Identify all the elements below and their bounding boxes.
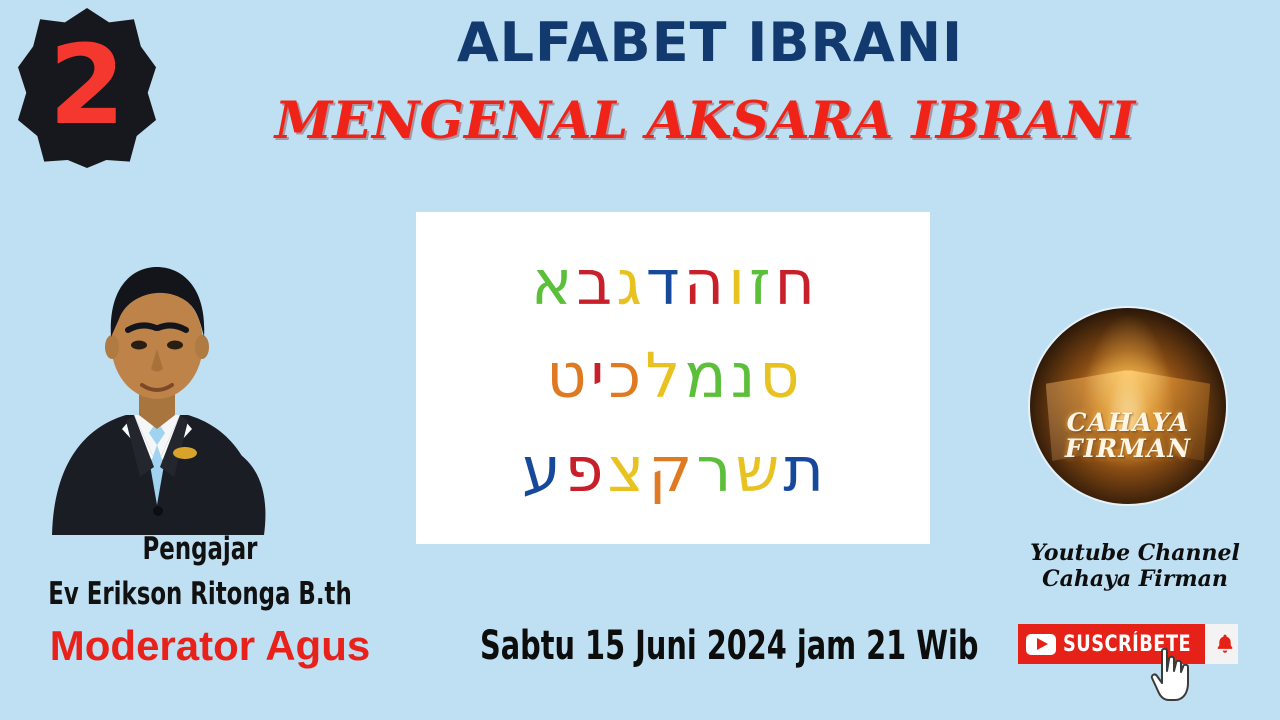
channel-logo-line1: CAHAYA [1030,410,1226,436]
speaker-name-label: Ev Erikson Ritonga B.th [36,578,364,611]
channel-caption-line2: Cahaya Firman [990,566,1280,592]
page-subtitle: MENGENAL AKSARA IBRANI [139,96,1271,147]
hebrew-row-1: חזוהדגבא [432,250,914,315]
youtube-play-icon [1026,634,1056,655]
hebrew-letter: ב [574,250,614,315]
hebrew-letter: ת [781,437,826,502]
page-title: ALFABET IBRANI [330,16,1090,70]
hebrew-letter: י [589,343,607,408]
hebrew-letter: ר [694,437,733,502]
channel-logo-line2: FIRMAN [1030,436,1226,462]
poster-canvas: 2 ALFABET IBRANI MENGENAL AKSARA IBRANI [0,0,1280,720]
hand-cursor-icon [1148,643,1194,705]
hebrew-letter: ע [520,437,563,502]
speaker-portrait [22,215,292,535]
hebrew-letter: ו [726,250,747,315]
hebrew-letter: ד [644,250,682,315]
hebrew-letter: פ [563,437,606,502]
subscribe-bar[interactable]: SUSCRÍBETE [1018,624,1238,664]
hebrew-row-3: תשרקצפע [432,437,914,502]
hebrew-letter: ג [614,250,644,315]
hebrew-letter: כ [606,343,643,408]
episode-number-badge: 2 [18,8,156,168]
episode-number-text: 2 [18,8,156,168]
moderator-label: Moderator Agus [0,625,420,667]
notification-bell-icon[interactable] [1205,624,1245,664]
hebrew-letter: ח [773,250,818,315]
hebrew-letter: ל [643,343,682,408]
hebrew-letter: צ [606,437,647,502]
hebrew-letter: מ [682,343,728,408]
hebrew-letter: ש [733,437,781,502]
hebrew-letter: א [529,250,574,315]
channel-caption: Youtube Channel Cahaya Firman [990,540,1280,593]
hebrew-letter: ס [757,343,801,408]
hebrew-letter: ז [747,250,772,315]
channel-logo-text: CAHAYA FIRMAN [1030,410,1226,463]
hebrew-row-2: סנמלכיט [432,343,914,408]
channel-logo[interactable]: CAHAYA FIRMAN [1030,308,1226,504]
schedule-label: Sabtu 15 Juni 2024 jam 21 Wib [480,626,960,666]
speaker-role-label: Pengajar [36,533,364,566]
hebrew-letter: נ [729,343,758,408]
hebrew-letter: ט [544,343,588,408]
hebrew-letter: ה [682,250,727,315]
channel-caption-line1: Youtube Channel [990,540,1280,566]
hebrew-alphabet-card: חזוהדגבא סנמלכיט תשרקצפע [416,212,930,544]
hebrew-letter: ק [646,437,694,502]
